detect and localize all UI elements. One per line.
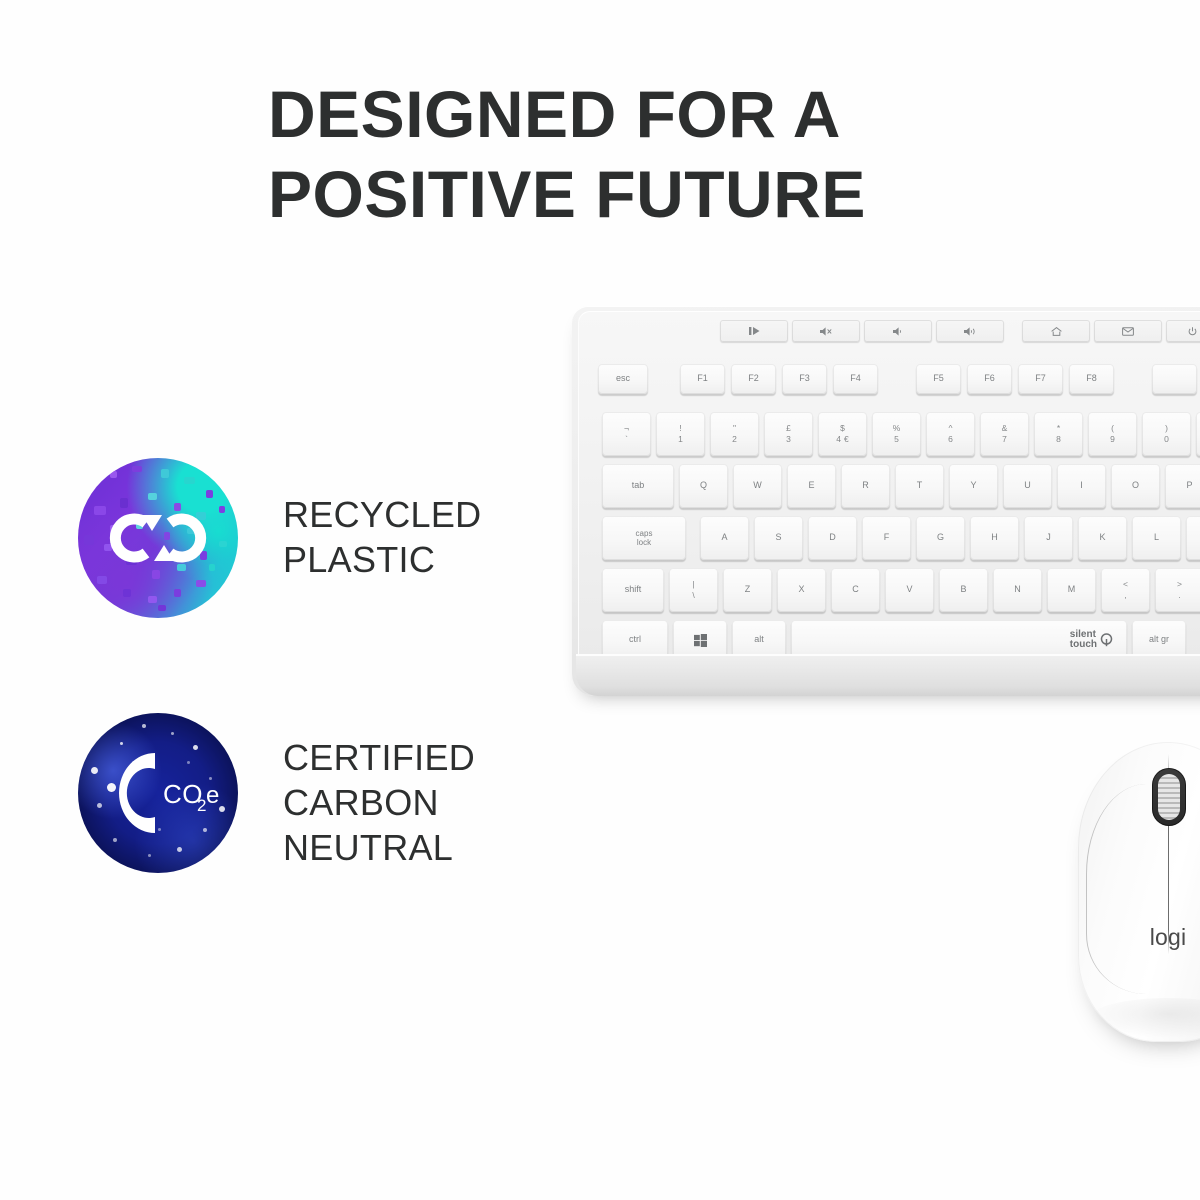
key-upper: !	[679, 424, 681, 433]
media-key-power-pc[interactable]: PC	[1166, 320, 1200, 342]
key-6[interactable]: ^6	[926, 412, 975, 456]
feature-label-recycled: RECYCLED PLASTIC	[283, 458, 481, 582]
key-upper: <	[1123, 580, 1128, 589]
key-lower: 4	[836, 435, 841, 444]
keyboard-function-row: esc F1 F2 F3 F4 F5 F6 F7 F8	[598, 364, 1197, 394]
key-f9[interactable]	[1152, 364, 1197, 394]
key-0[interactable]: )0	[1142, 412, 1191, 456]
keyboard-shift-row: shift |\ Z X C V B N M <, >.	[602, 568, 1200, 612]
feature-label-line-1: RECYCLED	[283, 492, 481, 537]
key-s[interactable]: S	[754, 516, 803, 560]
key-minus[interactable]	[1196, 412, 1200, 456]
key-lower: 2	[732, 435, 737, 444]
media-key-volume-up[interactable]	[936, 320, 1004, 342]
key-w[interactable]: W	[733, 464, 782, 508]
headline-line-2: POSITIVE FUTURE	[268, 154, 1028, 234]
key-9[interactable]: (9	[1088, 412, 1137, 456]
media-key-volume-down[interactable]	[864, 320, 932, 342]
feature-label-line-3: NEUTRAL	[283, 825, 475, 870]
key-lower: 3	[786, 435, 791, 444]
page-title: DESIGNED FOR A POSITIVE FUTURE	[268, 74, 1028, 234]
key-1[interactable]: !1	[656, 412, 705, 456]
key-upper: &	[1002, 424, 1008, 433]
key-d[interactable]: D	[808, 516, 857, 560]
key-lower: 1	[678, 435, 683, 444]
key-comma[interactable]: <,	[1101, 568, 1150, 612]
key-a[interactable]: A	[700, 516, 749, 560]
keyboard-front-lip	[576, 654, 1200, 696]
key-m[interactable]: M	[1047, 568, 1096, 612]
power-icon	[1188, 327, 1197, 336]
mouse-base-shading	[1090, 998, 1200, 1038]
key-upper: >	[1177, 580, 1182, 589]
key-upper: ^	[948, 424, 952, 433]
key-y[interactable]: Y	[949, 464, 998, 508]
key-upper: $	[840, 424, 845, 433]
recycle-loop-glyph	[106, 507, 210, 569]
keyboard-number-row: ¬` !1 "2 £3 $4€ %5 ^6 &7	[602, 412, 1200, 456]
windows-icon	[694, 634, 707, 647]
media-key-home[interactable]	[1022, 320, 1090, 342]
feature-label-line-2: PLASTIC	[283, 537, 481, 582]
key-upper: ¬	[624, 424, 629, 433]
keyboard-media-row: PC	[720, 320, 1200, 342]
key-b[interactable]: B	[939, 568, 988, 612]
key-tab[interactable]: tab	[602, 464, 674, 508]
key-semicolon[interactable]: :;	[1186, 516, 1200, 560]
key-8[interactable]: *8	[1034, 412, 1083, 456]
svg-text:e: e	[206, 782, 219, 809]
key-f6[interactable]: F6	[967, 364, 1012, 394]
key-upper: (	[1111, 424, 1114, 433]
key-upper: *	[1057, 424, 1060, 433]
key-v[interactable]: V	[885, 568, 934, 612]
silent-touch-logo: silent touch	[1070, 630, 1113, 650]
key-u[interactable]: U	[1003, 464, 1052, 508]
key-z[interactable]: Z	[723, 568, 772, 612]
key-lower: 7	[1002, 435, 1007, 444]
key-g[interactable]: G	[916, 516, 965, 560]
key-q[interactable]: Q	[679, 464, 728, 508]
key-f1[interactable]: F1	[680, 364, 725, 394]
key-3[interactable]: £3	[764, 412, 813, 456]
home-icon	[1051, 327, 1062, 336]
mouse-body: logi	[1078, 742, 1200, 1042]
key-e[interactable]: E	[787, 464, 836, 508]
mute-icon	[820, 327, 832, 336]
silent-touch-line-2: touch	[1070, 640, 1097, 650]
key-caps-lock[interactable]: capslock	[602, 516, 686, 560]
key-shift[interactable]: shift	[602, 568, 664, 612]
key-7[interactable]: &7	[980, 412, 1029, 456]
key-period[interactable]: >.	[1155, 568, 1200, 612]
mouse-scroll-wheel[interactable]	[1152, 768, 1186, 826]
feature-label-line-2: CARBON	[283, 780, 475, 825]
key-f[interactable]: F	[862, 516, 911, 560]
key-4[interactable]: $4€	[818, 412, 867, 456]
key-lower: 0	[1164, 435, 1169, 444]
key-upper: |	[692, 580, 694, 589]
key-upper: £	[786, 424, 791, 433]
key-x[interactable]: X	[777, 568, 826, 612]
key-extra: €	[844, 435, 849, 444]
feature-label-carbon: CERTIFIED CARBON NEUTRAL	[283, 713, 475, 870]
feature-label-line-1: CERTIFIED	[283, 735, 475, 780]
key-r[interactable]: R	[841, 464, 890, 508]
wireless-mouse: logi	[1078, 742, 1200, 1042]
volume-down-icon	[893, 327, 903, 336]
key-f3[interactable]: F3	[782, 364, 827, 394]
play-pause-icon	[749, 327, 760, 335]
media-key-mail[interactable]	[1094, 320, 1162, 342]
key-upper: )	[1165, 424, 1168, 433]
key-5[interactable]: %5	[872, 412, 921, 456]
carbon-co2e-icon: CO 2 e	[78, 713, 238, 873]
product-marketing-image: DESIGNED FOR A POSITIVE FUTURE	[0, 0, 1200, 1200]
key-lower: 8	[1056, 435, 1061, 444]
co2e-glyph: CO 2 e	[93, 745, 223, 841]
key-upper: "	[733, 424, 736, 433]
key-f8[interactable]: F8	[1069, 364, 1114, 394]
headline-line-1: DESIGNED FOR A	[268, 74, 1028, 154]
key-lower: `	[625, 435, 628, 444]
key-n[interactable]: N	[993, 568, 1042, 612]
key-caps-line-1: caps	[636, 529, 653, 538]
key-o[interactable]: O	[1111, 464, 1160, 508]
key-caps-line-2: lock	[636, 538, 653, 547]
key-lower: .	[1178, 591, 1180, 600]
key-lower: 5	[894, 435, 899, 444]
mail-icon	[1122, 327, 1134, 336]
key-t[interactable]: T	[895, 464, 944, 508]
key-lower: ,	[1124, 591, 1126, 600]
key-f5[interactable]: F5	[916, 364, 961, 394]
media-key-mute[interactable]	[792, 320, 860, 342]
keyboard-home-row: capslock A S D F G H J K L :;	[602, 516, 1200, 560]
mouse-brand-logo: logi	[1078, 924, 1200, 951]
key-f4[interactable]: F4	[833, 364, 878, 394]
key-backslash[interactable]: |\	[669, 568, 718, 612]
key-l[interactable]: L	[1132, 516, 1181, 560]
key-esc[interactable]: esc	[598, 364, 648, 394]
key-f2[interactable]: F2	[731, 364, 776, 394]
silent-touch-mark-icon	[1100, 633, 1113, 647]
key-lower: \	[692, 591, 694, 600]
key-upper: %	[893, 424, 901, 433]
volume-up-icon	[964, 327, 976, 336]
feature-certified-carbon-neutral: CO 2 e CERTIFIED CARBON NEUTRAL	[78, 713, 548, 873]
key-j[interactable]: J	[1024, 516, 1073, 560]
sustainability-features: RECYCLED PLASTIC	[78, 458, 548, 873]
media-key-play-pause[interactable]	[720, 320, 788, 342]
key-k[interactable]: K	[1078, 516, 1127, 560]
key-2[interactable]: "2	[710, 412, 759, 456]
key-f7[interactable]: F7	[1018, 364, 1063, 394]
feature-recycled-plastic: RECYCLED PLASTIC	[78, 458, 548, 618]
key-lower: 6	[948, 435, 953, 444]
key-h[interactable]: H	[970, 516, 1019, 560]
key-c[interactable]: C	[831, 568, 880, 612]
key-i[interactable]: I	[1057, 464, 1106, 508]
key-lower: 9	[1110, 435, 1115, 444]
key-backtick[interactable]: ¬`	[602, 412, 651, 456]
key-p[interactable]: P	[1165, 464, 1200, 508]
mouse-left-button[interactable]	[1086, 784, 1157, 994]
keyboard-qwerty-row: tab Q W E R T Y U I O P	[602, 464, 1200, 508]
wireless-keyboard: PC esc F1 F2 F3 F4 F5 F6 F7 F8 ¬`	[572, 306, 1200, 696]
recycling-loop-icon	[78, 458, 238, 618]
